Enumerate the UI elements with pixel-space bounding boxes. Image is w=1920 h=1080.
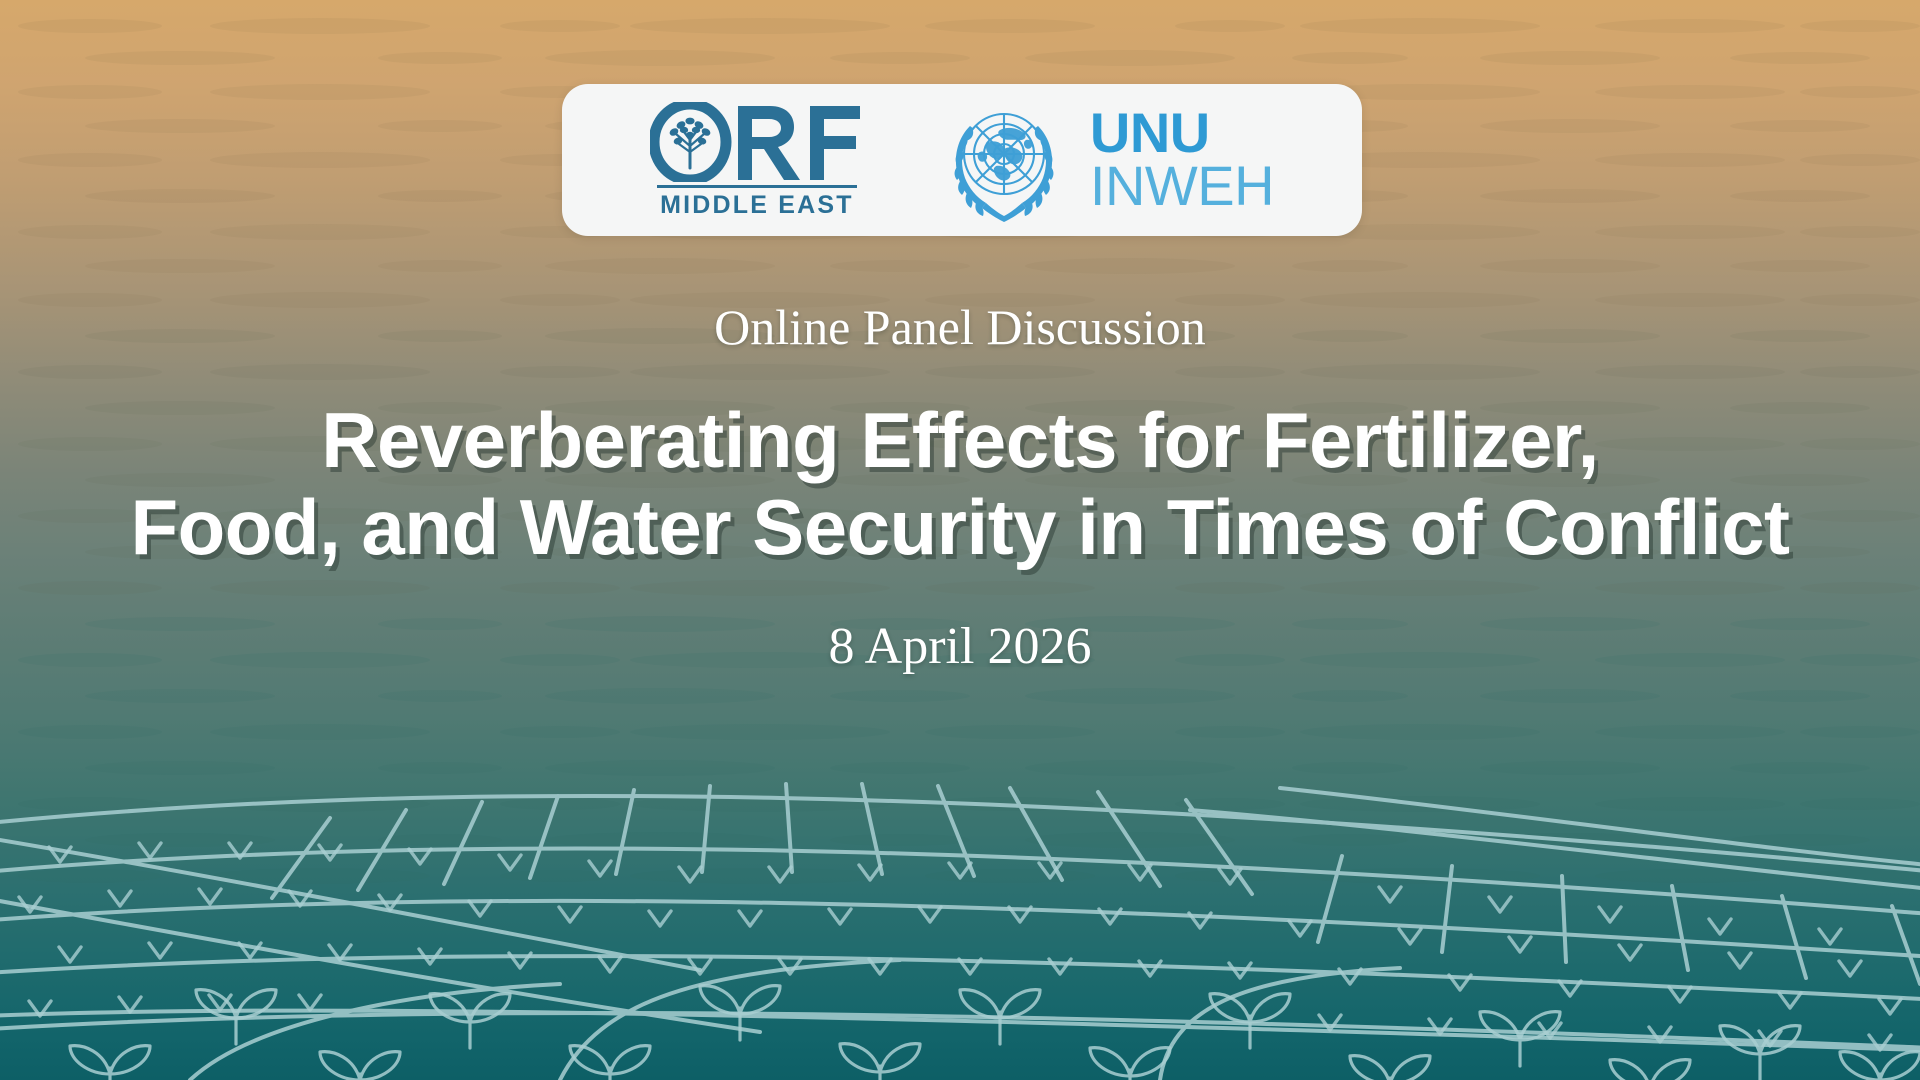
orf-subtitle: MIDDLE EAST (660, 193, 854, 218)
event-type-kicker: Online Panel Discussion (0, 300, 1920, 355)
page-title-line-1: Reverberating Effects for Fertilizer, (70, 397, 1850, 484)
partner-logos-card: MIDDLE EAST (562, 84, 1362, 236)
unu-inweh-wordmark: UNU INWEH (1090, 107, 1274, 212)
page-title: Reverberating Effects for Fertilizer, Fo… (0, 397, 1920, 572)
title-slide: MIDDLE EAST (0, 0, 1920, 1080)
orf-divider-rule (657, 185, 857, 188)
unu-inweh-logo: UNU INWEH (940, 96, 1274, 224)
farm-field-illustration (0, 680, 1920, 1080)
orf-middle-east-logo: MIDDLE EAST (650, 102, 864, 218)
unu-line-2: INWEH (1090, 160, 1274, 213)
slide-content: Online Panel Discussion Reverberating Ef… (0, 300, 1920, 675)
orf-wordmark-icon (650, 102, 864, 182)
event-date: 8 April 2026 (0, 618, 1920, 675)
un-globe-laurel-emblem-icon (940, 96, 1068, 224)
unu-line-1: UNU (1090, 107, 1274, 160)
page-title-line-2: Food, and Water Security in Times of Con… (70, 484, 1850, 571)
